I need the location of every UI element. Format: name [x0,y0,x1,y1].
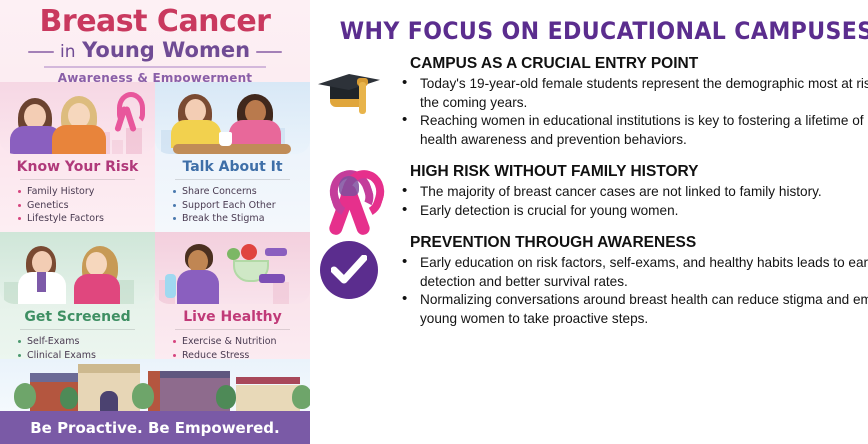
infographic-title-line2-small: in [60,42,76,62]
check-circle-icon [310,233,388,311]
card-title-live-healthy: Live Healthy [155,309,310,325]
infographic-title-line1: Breast Cancer [8,6,302,38]
graduation-cap-icon [310,54,388,132]
list-item: Support Each Other [173,199,310,213]
pink-ribbon-decor-icon [115,92,139,132]
infographic-title-line2: in Young Women [60,39,250,64]
section-bullet-list: Today's 19-year-old female students repr… [392,75,868,149]
card-list-talk-about-it: Share Concerns Support Each Other Break … [155,185,310,226]
apple-decor [241,244,257,260]
infographic-footer-banner: Be Proactive. Be Empowered. [0,411,310,444]
infographic-title-line2-row: in Young Women [8,39,302,64]
campus-illustration [0,359,310,411]
section-bullet-list: The majority of breast cancer cases are … [392,183,868,220]
infographic-header: Breast Cancer in Young Women Awareness &… [0,0,310,85]
title-rule-left [28,51,54,53]
list-item: Genetics [18,199,155,213]
broccoli-decor [227,248,240,260]
dumbbell-decor [259,274,285,283]
card-title-get-screened: Get Screened [0,309,155,325]
table-decor [173,144,291,154]
card-list-live-healthy: Exercise & Nutrition Reduce Stress [155,335,310,362]
infographic-card-grid: Know Your Risk Family History Genetics L… [0,82,310,382]
section-campus-entry-point: CAMPUS AS A CRUCIAL ENTRY POINT Today's … [310,54,868,149]
card-illustration-two-women-talking [155,82,310,154]
infographic-card-know-your-risk: Know Your Risk Family History Genetics L… [0,82,155,232]
infographic-panel: Breast Cancer in Young Women Awareness &… [0,0,310,444]
title-underline [44,66,266,68]
infographic-title-line2-big: Young Women [82,38,250,62]
card-illustration-two-women [0,82,155,154]
pink-ribbon-icon [310,162,388,240]
card-title-talk-about-it: Talk About It [155,159,310,175]
page-title: WHY FOCUS ON EDUCATIONAL CAMPUSES? [340,17,868,45]
bullet-item: Normalizing conversations around breast … [392,291,868,328]
dumbbell-decor [265,248,287,256]
water-bottle-decor [165,274,176,298]
slide-root: Breast Cancer in Young Women Awareness &… [0,0,868,444]
bullet-item: Early education on risk factors, self-ex… [392,254,868,291]
section-high-risk-family-history: HIGH RISK WITHOUT FAMILY HISTORY The maj… [310,162,868,220]
card-divider [20,329,135,330]
card-illustration-doctor-exam [0,232,155,304]
card-list-know-your-risk: Family History Genetics Lifestyle Factor… [0,185,155,226]
section-prevention-through-awareness: PREVENTION THROUGH AWARENESS Early educa… [310,233,868,328]
check-mark-glyph [331,255,367,285]
bullet-item: Early detection is crucial for young wom… [392,202,868,221]
card-list-get-screened: Self-Exams Clinical Exams [0,335,155,362]
bullet-item: The majority of breast cancer cases are … [392,183,868,202]
bullet-item: Reaching women in educational institutio… [392,112,868,149]
coffee-cup-decor [219,132,232,146]
list-item: Exercise & Nutrition [173,335,310,349]
section-heading: CAMPUS AS A CRUCIAL ENTRY POINT [410,54,868,73]
list-item: Share Concerns [173,185,310,199]
list-item: Family History [18,185,155,199]
card-illustration-fitness [155,232,310,304]
infographic-card-talk-about-it: Talk About It Share Concerns Support Eac… [155,82,310,232]
infographic-footer-text: Be Proactive. Be Empowered. [30,419,280,437]
card-divider [175,329,290,330]
bullet-item: Today's 19-year-old female students repr… [392,75,868,112]
list-item: Break the Stigma [173,212,310,226]
list-item: Self-Exams [18,335,155,349]
title-rule-right [256,51,282,53]
section-heading: HIGH RISK WITHOUT FAMILY HISTORY [410,162,868,181]
card-divider [20,179,135,180]
section-heading: PREVENTION THROUGH AWARENESS [410,233,868,252]
slide-content: WHY FOCUS ON EDUCATIONAL CAMPUSES? CAMPU… [310,0,868,444]
card-title-know-your-risk: Know Your Risk [0,159,155,175]
list-item: Lifestyle Factors [18,212,155,226]
card-divider [175,179,290,180]
section-bullet-list: Early education on risk factors, self-ex… [392,254,868,328]
